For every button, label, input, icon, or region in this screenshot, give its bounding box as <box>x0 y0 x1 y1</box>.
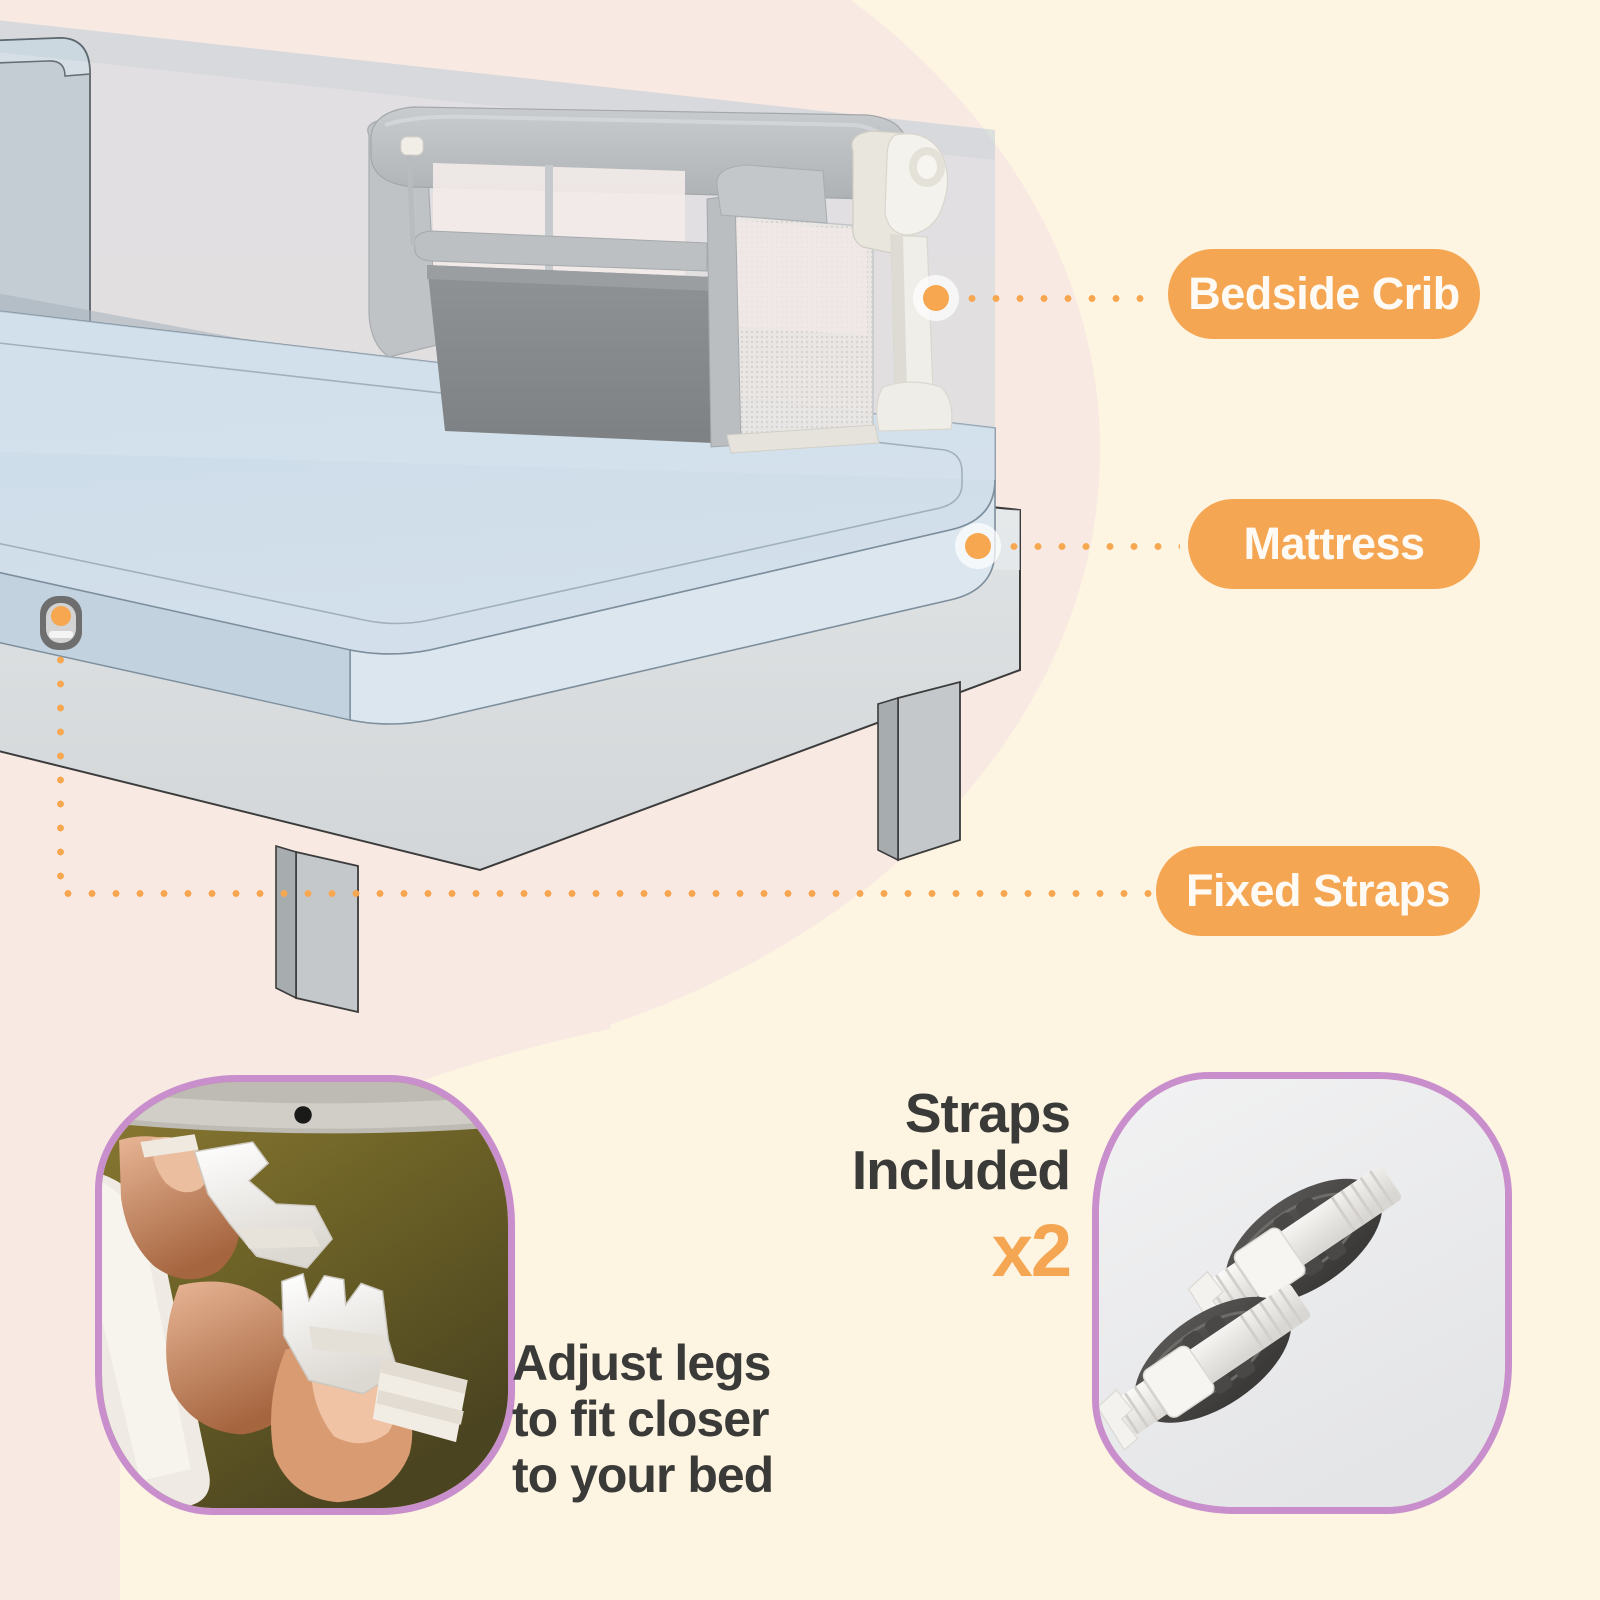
callout-fixed-straps-label: Fixed Straps <box>1186 865 1450 917</box>
connector-straps-horizontal <box>56 889 1162 898</box>
adjust-legs-photo <box>95 1075 515 1515</box>
callout-fixed-straps[interactable]: Fixed Straps <box>1156 846 1480 936</box>
bedside-crib-illustration <box>355 95 975 485</box>
callout-bedside-crib-label: Bedside Crib <box>1188 268 1460 320</box>
infographic-canvas: Bedside Crib Mattress Fixed Straps <box>0 0 1600 1600</box>
straps-count-badge: x2 <box>992 1208 1070 1293</box>
callout-mattress-label: Mattress <box>1243 518 1424 570</box>
adjust-caption-line-2: to fit closer <box>512 1391 773 1447</box>
callout-bedside-crib[interactable]: Bedside Crib <box>1168 249 1480 339</box>
connector-straps-vertical <box>56 648 65 896</box>
adjust-legs-caption: Adjust legs to fit closer to your bed <box>512 1335 773 1503</box>
strap-buckle-icon <box>40 596 82 650</box>
adjust-caption-line-3: to your bed <box>512 1447 773 1503</box>
straps-title-line-2: Included <box>852 1142 1070 1199</box>
callout-mattress[interactable]: Mattress <box>1188 499 1480 589</box>
straps-included-photo <box>1092 1072 1512 1514</box>
connector-mattress <box>1002 542 1180 551</box>
mattress-corner-dot <box>955 523 1001 569</box>
straps-included-title: Straps Included <box>852 1085 1070 1198</box>
connector-crib <box>960 294 1160 303</box>
straps-title-line-1: Straps <box>852 1085 1070 1142</box>
adjust-caption-line-1: Adjust legs <box>512 1335 773 1391</box>
crib-hinge-dot <box>913 275 959 321</box>
